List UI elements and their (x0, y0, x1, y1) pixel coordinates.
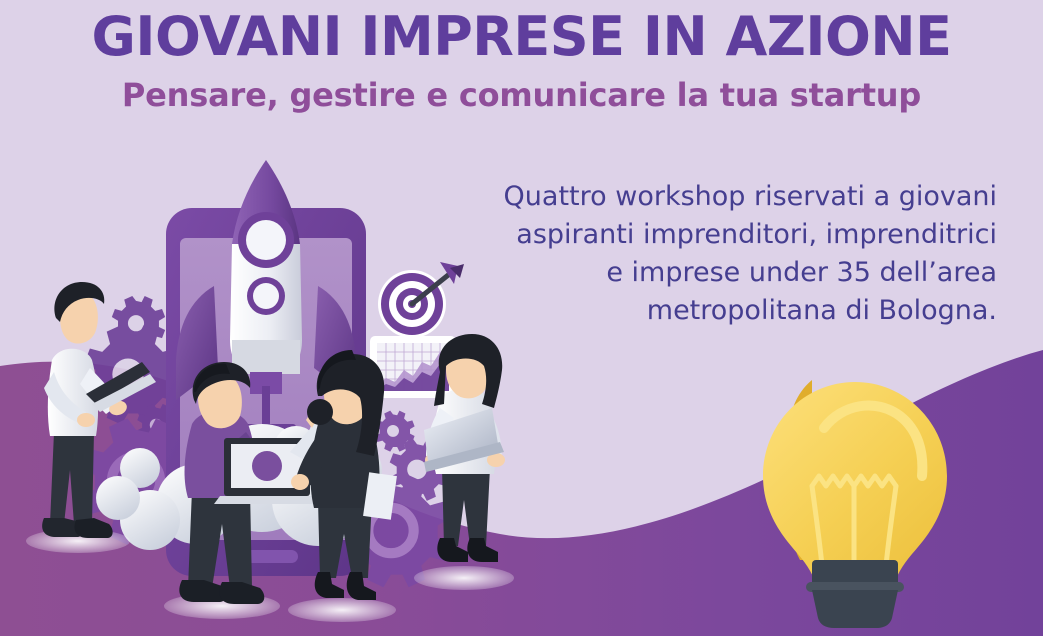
description-line-2: aspiranti imprenditori, imprenditrici (516, 219, 997, 250)
description-paragraph: Quattro workshop riservati a giovani asp… (467, 178, 997, 330)
page-subtitle: Pensare, gestire e comunicare la tua sta… (0, 76, 1043, 114)
page-title: GIOVANI IMPRESE IN AZIONE (0, 6, 1043, 68)
headline-block: GIOVANI IMPRESE IN AZIONE Pensare, gesti… (0, 6, 1043, 114)
description-line-1: Quattro workshop riservati a giovani (504, 181, 997, 212)
description-line-4: metropolitana di Bologna. (647, 295, 997, 326)
poster-canvas: GIOVANI IMPRESE IN AZIONE Pensare, gesti… (0, 0, 1043, 636)
description-line-3: e imprese under 35 dell’area (606, 257, 997, 288)
